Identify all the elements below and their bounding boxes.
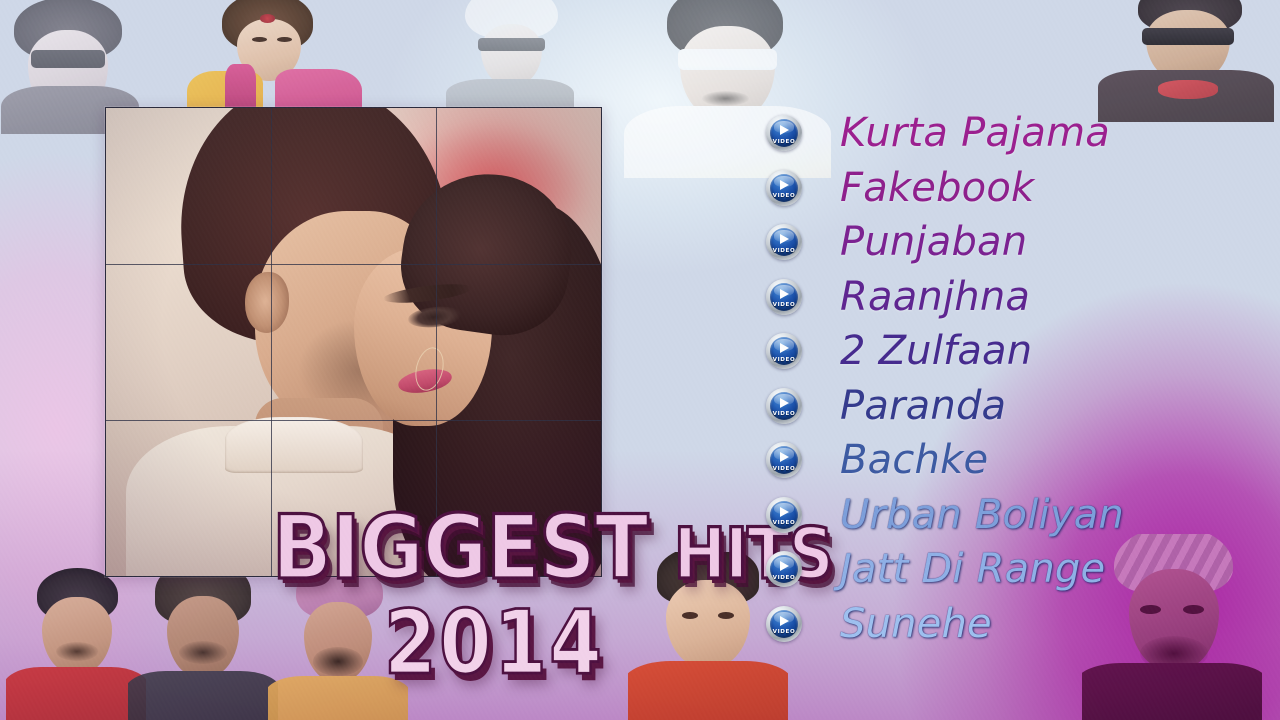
background-grain-overlay (0, 0, 1280, 720)
video-jukebox-thumbnail: BIGGEST HITS 2014 VIDEO Kurta Pajama VID… (0, 0, 1280, 720)
